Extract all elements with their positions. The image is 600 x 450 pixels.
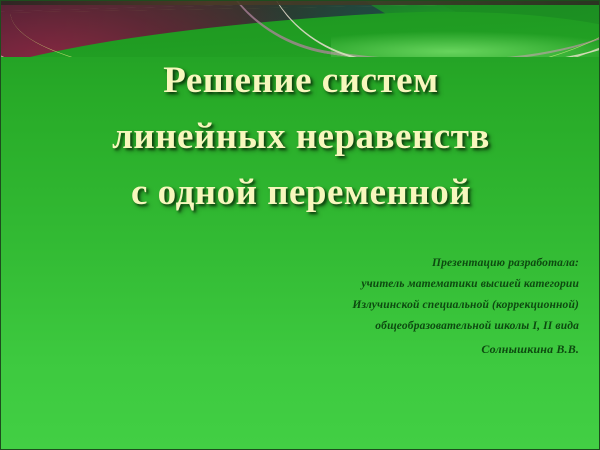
subtitle-line-intro: Презентацию разработала: (249, 253, 579, 274)
slide-subtitle: Презентацию разработала: учитель математ… (249, 253, 579, 362)
presentation-slide: Решение систем линейных неравенств с одн… (0, 0, 600, 450)
decorative-wave-banner (1, 1, 600, 57)
banner-top-edge (1, 1, 600, 5)
subtitle-line-school-1: Излучинской специальной (коррекционной) (249, 295, 579, 316)
slide-title: Решение систем линейных неравенств с одн… (1, 53, 600, 221)
title-line-1: Решение систем (1, 53, 600, 109)
subtitle-line-school-2: общеобразовательной школы I, II вида (249, 316, 579, 337)
subtitle-author-name: Солнышкина В.В. (249, 337, 579, 362)
subtitle-line-role: учитель математики высшей категории (249, 274, 579, 295)
title-line-2: линейных неравенств (1, 109, 600, 165)
title-line-3: с одной переменной (1, 165, 600, 221)
